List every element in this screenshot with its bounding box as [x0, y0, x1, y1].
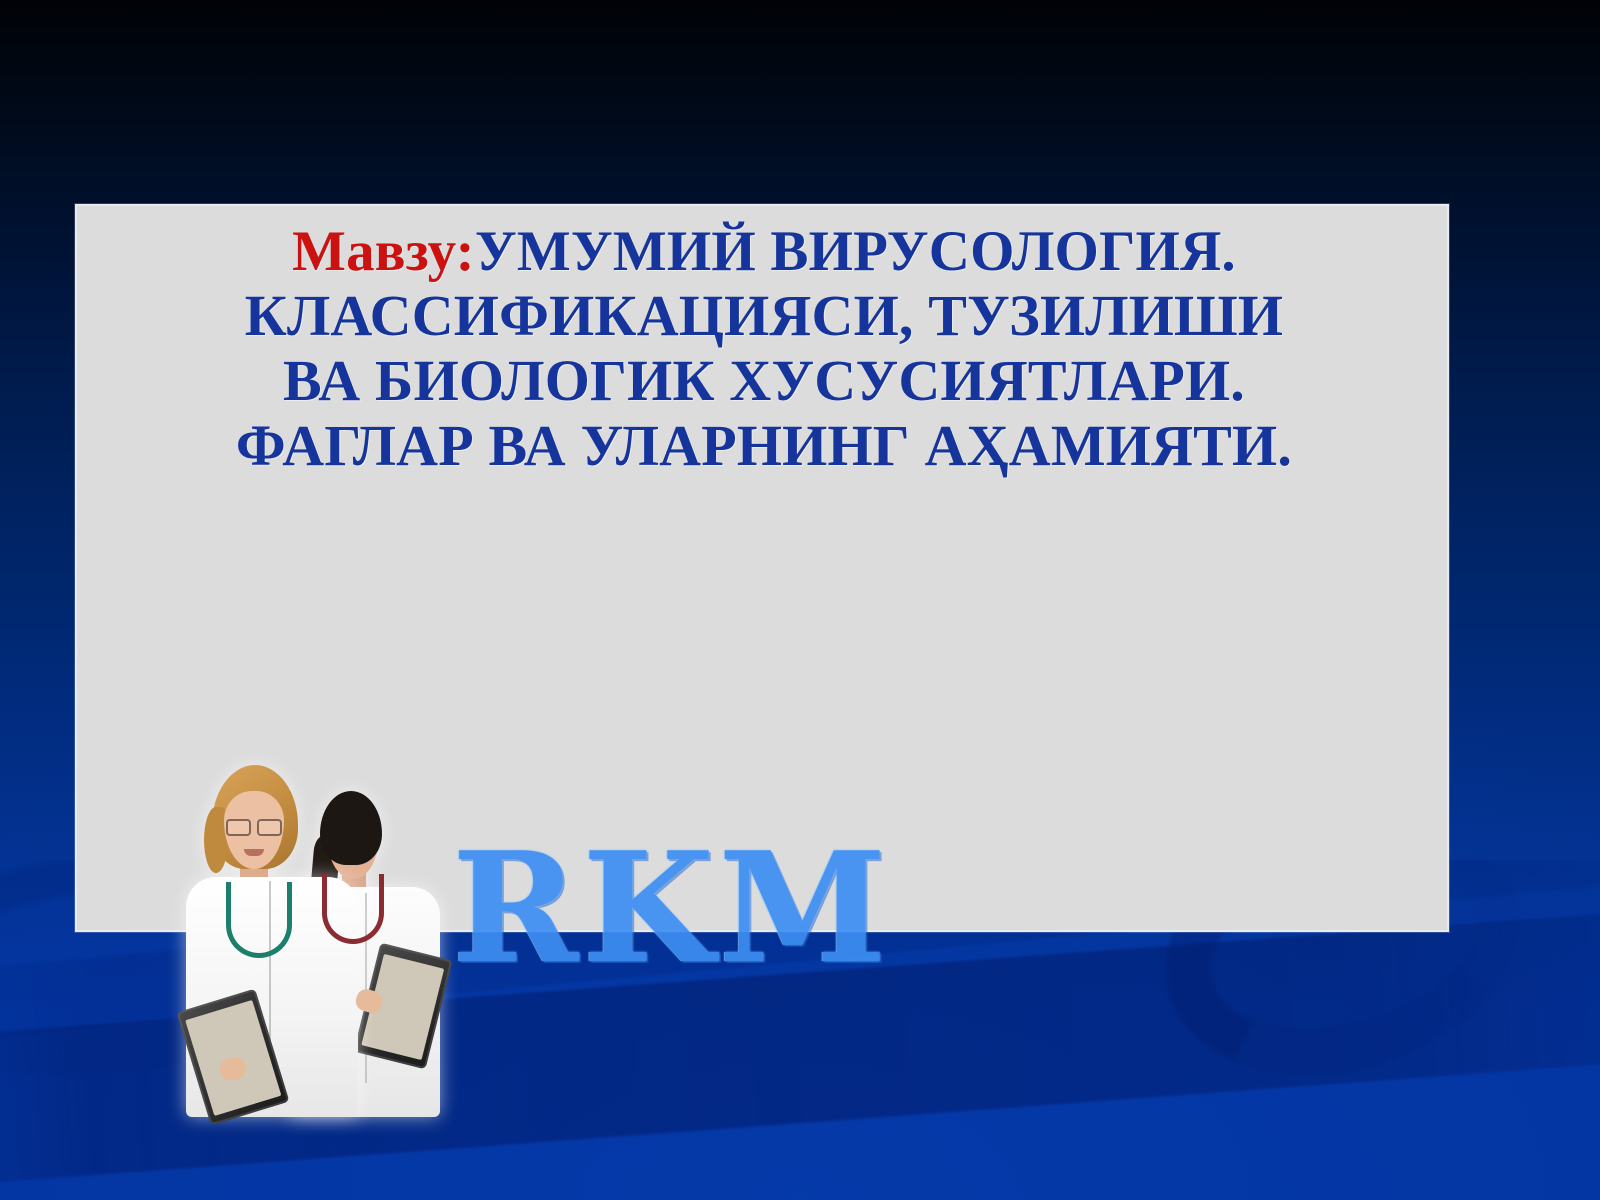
title-line-1: Мавзу:УМУМИЙ ВИРУСОЛОГИЯ.: [99, 220, 1429, 284]
stethoscope-back-icon: [322, 874, 384, 944]
presentation-slide: Мавзу:УМУМИЙ ВИРУСОЛОГИЯ. КЛАССИФИКАЦИЯС…: [0, 0, 1600, 1200]
stethoscope-front-icon: [226, 882, 292, 958]
title-line-3: ВА БИОЛОГИК ХУСУСИЯТЛАРИ.: [99, 349, 1429, 414]
two-doctors-photo: [186, 762, 486, 1117]
rkm-logo: R K M: [452, 838, 881, 978]
logo-letter-k: K: [582, 838, 708, 978]
eyeglasses-icon: [226, 819, 282, 832]
title-line-1-text: УМУМИЙ ВИРУСОЛОГИЯ.: [475, 220, 1236, 283]
title-line-2: КЛАССИФИКАЦИЯСИ, ТУЗИЛИШИ: [99, 284, 1429, 349]
slide-title: Мавзу:УМУМИЙ ВИРУСОЛОГИЯ. КЛАССИФИКАЦИЯС…: [99, 220, 1429, 479]
title-line-4: ФАГЛАР ВА УЛАРНИНГ АҲАМИЯТИ.: [99, 414, 1429, 479]
logo-letter-r: R: [452, 838, 572, 978]
topic-label: Мавзу:: [292, 220, 475, 283]
logo-letter-m: M: [718, 838, 880, 978]
